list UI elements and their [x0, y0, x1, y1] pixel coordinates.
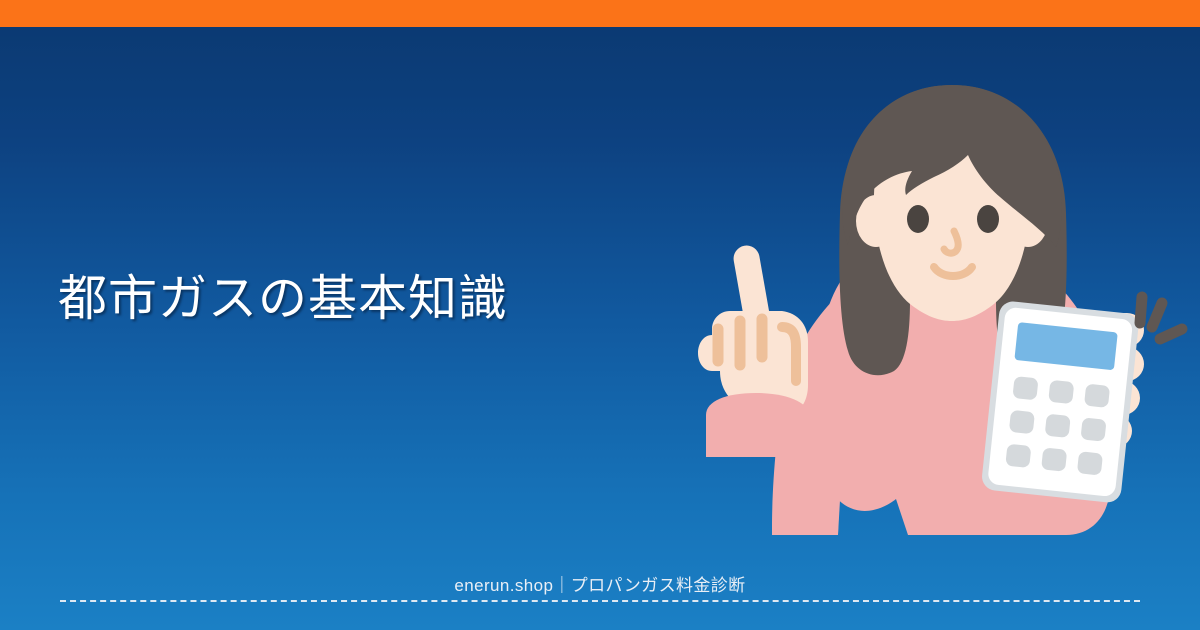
pointing-hand-shape [698, 244, 810, 457]
calculator-keys [1005, 376, 1110, 476]
top-accent-bar [0, 0, 1200, 27]
illustration-pointing-woman [690, 85, 1200, 545]
sparkle-marks [1140, 297, 1182, 339]
calculator-shape [981, 300, 1140, 504]
page-title: 都市ガスの基本知識 [58, 268, 678, 330]
og-image-canvas: 都市ガスの基本知識 enerun.shop｜プロパンガス料金診断 [0, 0, 1200, 630]
footer-caption: enerun.shop｜プロパンガス料金診断 [0, 571, 1200, 596]
footer-divider [60, 600, 1140, 602]
